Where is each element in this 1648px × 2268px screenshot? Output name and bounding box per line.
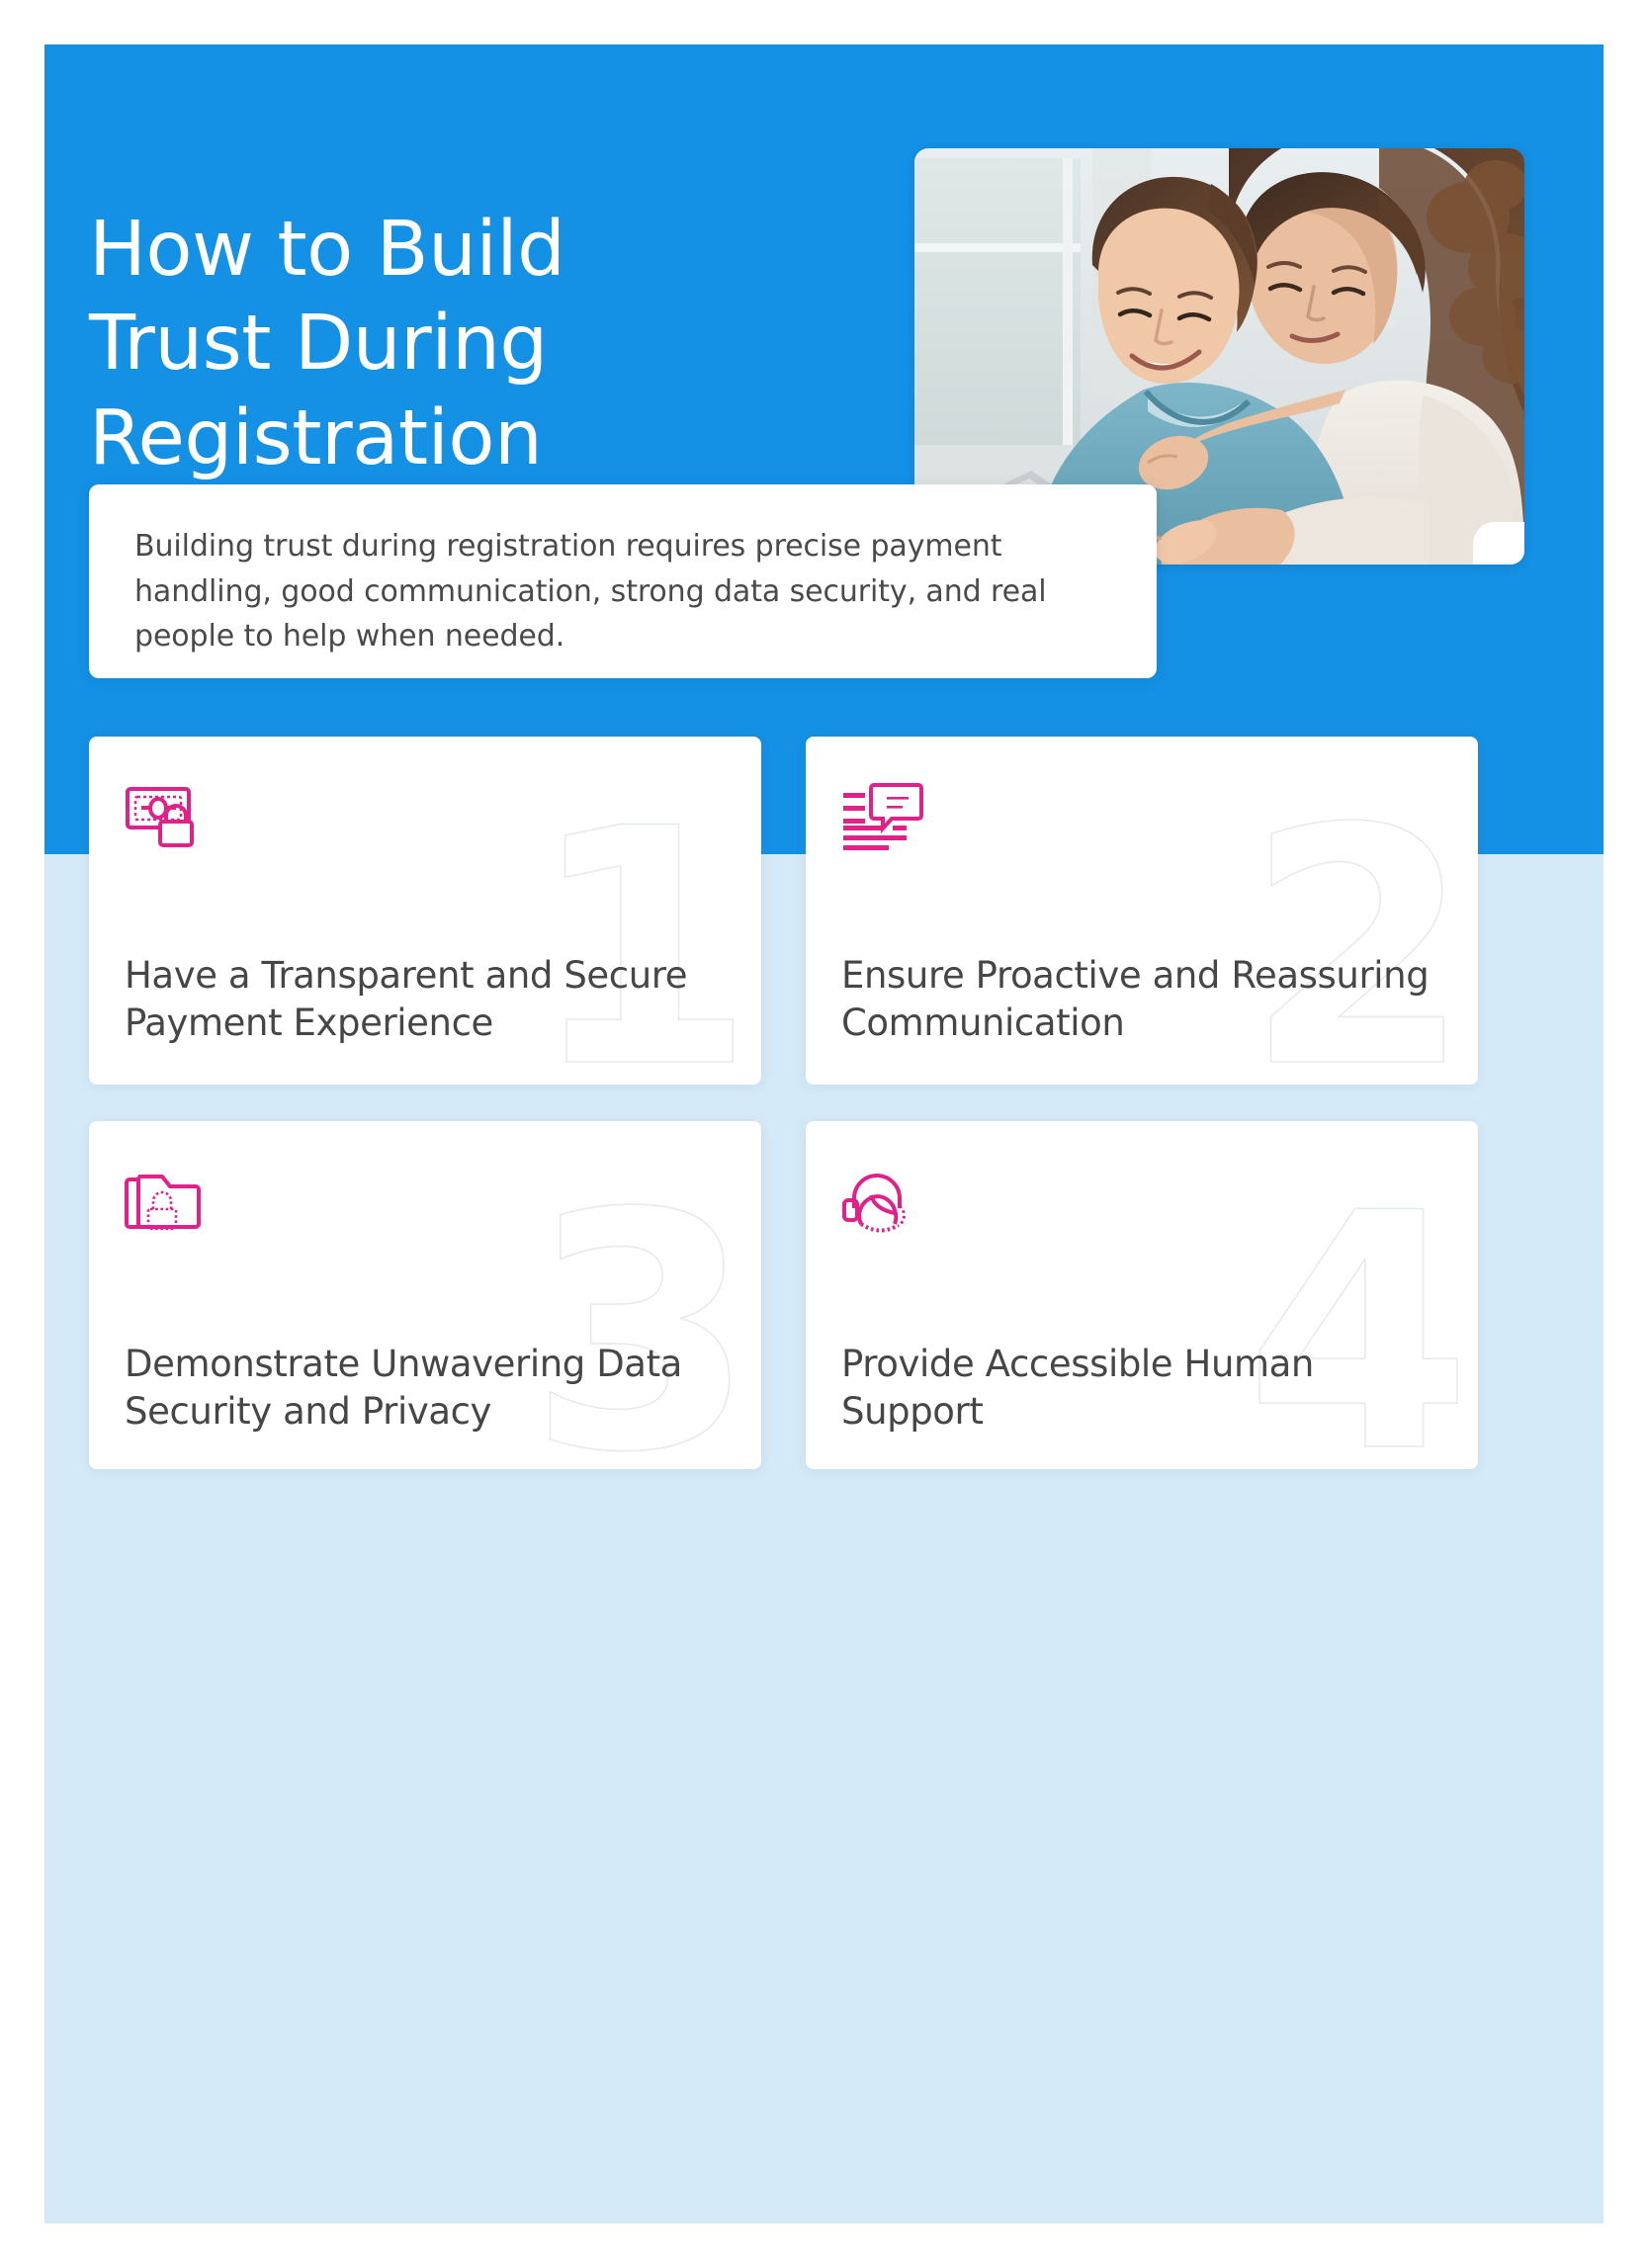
tip-card-4-title: Provide Accessible Human Support: [841, 1341, 1448, 1436]
tip-card-4[interactable]: 4 Provide Accessible Human Support: [806, 1121, 1478, 1469]
page-title-line-1: How to Build: [89, 203, 702, 297]
headset-support-icon: [841, 1165, 926, 1236]
tip-card-3[interactable]: 3 Demonstrate Unwavering Data Security a…: [89, 1121, 761, 1469]
page-title-line-2: Trust During: [89, 297, 702, 391]
infographic-canvas: How to Build Trust During Registration: [44, 44, 1604, 2224]
description-card: Building trust during registration requi…: [89, 484, 1157, 678]
tip-card-2[interactable]: 2 Ensure Proactive and Reassuring Commun…: [806, 737, 1478, 1085]
tip-card-1-title: Have a Transparent and Secure Payment Ex…: [125, 952, 732, 1047]
tips-grid: 1 Have a Transparent and Secure Payment …: [89, 737, 1559, 1469]
tip-card-1[interactable]: 1 Have a Transparent and Secure Payment …: [89, 737, 761, 1085]
infographic-page: How to Build Trust During Registration: [0, 0, 1648, 2268]
folder-lock-icon: [125, 1165, 210, 1236]
page-title: How to Build Trust During Registration: [89, 203, 702, 485]
banknote-lock-icon: [125, 780, 210, 851]
description-text: Building trust during registration requi…: [134, 524, 1111, 659]
page-title-line-3: Registration: [89, 392, 702, 485]
tip-card-3-title: Demonstrate Unwavering Data Security and…: [125, 1341, 732, 1436]
document-speech-bubble-icon: [841, 780, 926, 851]
tip-card-2-title: Ensure Proactive and Reassuring Communic…: [841, 952, 1448, 1047]
